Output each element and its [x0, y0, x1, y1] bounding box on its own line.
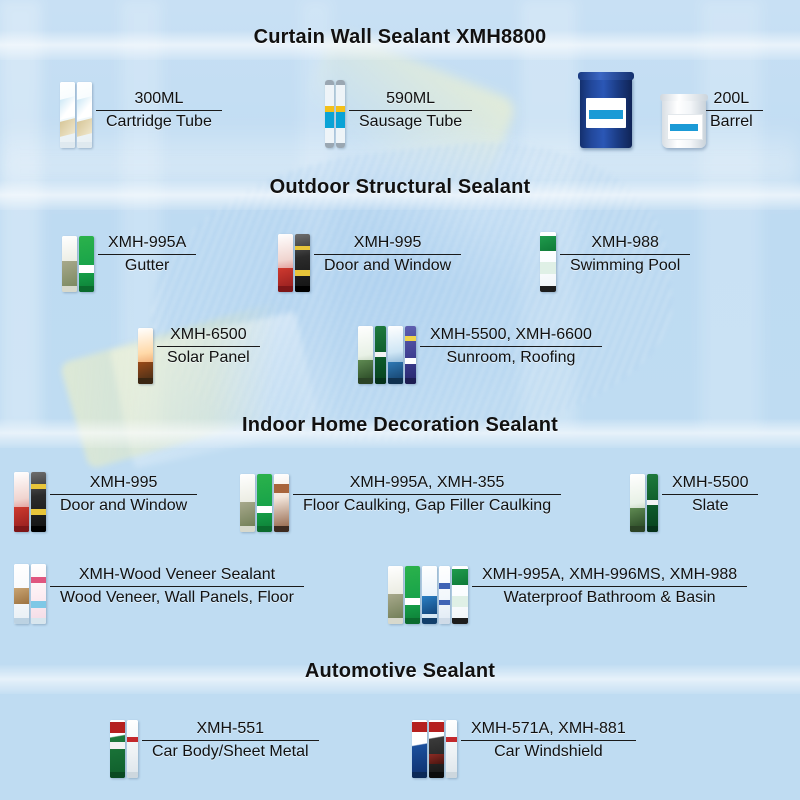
- section-title: Outdoor Structural Sealant: [270, 176, 531, 199]
- tube-icon: [439, 566, 450, 624]
- tube-icon: [388, 566, 403, 624]
- product-code: XMH-551: [186, 720, 274, 740]
- product-image-tubes-two-scenic: [630, 456, 658, 532]
- product-entry[interactable]: XMH-5500, XMH-6600 Sunroom, Roofing: [358, 308, 602, 384]
- product-code: XMH-995: [344, 234, 432, 254]
- barrel-icon: [580, 76, 632, 148]
- tube-icon: [62, 236, 77, 292]
- product-entry[interactable]: XMH-995 Door and Window: [278, 216, 461, 292]
- catalog-page: Curtain Wall Sealant XMH8800 300ML Cartr…: [0, 0, 800, 800]
- product-labels: XMH-995A, XMH-996MS, XMH-988 Waterproof …: [472, 566, 747, 607]
- product-labels: 590ML Sausage Tube: [349, 90, 472, 131]
- product-image-tube-green-white: [540, 216, 556, 292]
- product-labels: XMH-6500 Solar Panel: [157, 326, 260, 367]
- product-description: Sausage Tube: [349, 111, 472, 131]
- product-labels: 200L Barrel: [700, 90, 763, 131]
- product-description: Swimming Pool: [560, 255, 690, 275]
- product-image-cartridge-pair: [60, 72, 92, 148]
- tube-icon: [412, 720, 427, 778]
- tube-icon: [446, 720, 457, 778]
- product-image-tubes-three-mixed: [240, 456, 289, 532]
- product-labels: XMH-995 Door and Window: [314, 234, 461, 275]
- section-title: Automotive Sealant: [305, 660, 495, 683]
- tube-icon: [405, 326, 416, 384]
- product-code: XMH-995A: [98, 234, 196, 254]
- product-image-tubes-white-green: [62, 216, 94, 292]
- product-image-drum-and-pail: [580, 72, 672, 148]
- product-code: XMH-995A, XMH-355: [340, 474, 515, 494]
- tube-icon: [358, 326, 373, 384]
- tube-icon: [79, 236, 94, 292]
- product-code: XMH-988: [581, 234, 669, 254]
- product-entry[interactable]: XMH-995A, XMH-355 Floor Caulking, Gap Fi…: [240, 456, 561, 532]
- product-labels: XMH-571A, XMH-881 Car Windshield: [461, 720, 636, 761]
- product-labels: XMH-995A Gutter: [98, 234, 196, 275]
- tube-icon: [14, 472, 29, 532]
- product-entry[interactable]: XMH-995 Door and Window: [14, 456, 197, 532]
- section-header-curtain-wall: Curtain Wall Sealant XMH8800: [0, 26, 800, 49]
- product-code: 590ML: [376, 90, 445, 110]
- product-image-tubes-four-scenic: [358, 308, 416, 384]
- product-code: XMH-995: [80, 474, 168, 494]
- tube-icon: [647, 474, 658, 532]
- product-description: Door and Window: [50, 495, 197, 515]
- product-labels: XMH-995A, XMH-355 Floor Caulking, Gap Fi…: [293, 474, 561, 515]
- product-image-tubes-red-black: [14, 456, 46, 532]
- product-description: Car Body/Sheet Metal: [142, 741, 319, 761]
- product-image-tubes-two-wood: [14, 548, 46, 624]
- product-description: Floor Caulking, Gap Filler Caulking: [293, 495, 561, 515]
- tube-icon: [388, 326, 403, 384]
- product-code: XMH-Wood Veneer Sealant: [69, 566, 285, 586]
- product-description: Car Windshield: [484, 741, 612, 761]
- tube-icon: [31, 564, 46, 624]
- tube-icon: [31, 472, 46, 532]
- product-code: XMH-6500: [160, 326, 256, 346]
- tube-icon: [138, 328, 153, 384]
- product-description: Slate: [682, 495, 738, 515]
- tube-icon: [429, 720, 444, 778]
- section-header-indoor-home: Indoor Home Decoration Sealant: [0, 414, 800, 437]
- product-entry[interactable]: XMH-995A Gutter: [62, 216, 196, 292]
- product-code: XMH-571A, XMH-881: [461, 720, 636, 740]
- product-code: 300ML: [124, 90, 193, 110]
- tube-icon: [452, 566, 468, 624]
- tube-icon: [375, 326, 386, 384]
- tube-icon: [110, 720, 125, 778]
- product-image-tubes-five-bath: [388, 548, 468, 624]
- tube-icon: [240, 474, 255, 532]
- product-entry[interactable]: 200L Barrel: [580, 72, 763, 148]
- product-description: Waterproof Bathroom & Basin: [494, 587, 726, 607]
- product-labels: 300ML Cartridge Tube: [96, 90, 222, 131]
- product-code: 200L: [704, 90, 760, 110]
- product-image-tube-orange: [138, 308, 153, 384]
- product-description: Door and Window: [314, 255, 461, 275]
- product-description: Cartridge Tube: [96, 111, 222, 131]
- product-image-tubes-auto-551: [110, 702, 138, 778]
- sausage-tube-icon: [325, 80, 334, 148]
- product-description: Barrel: [700, 111, 763, 131]
- product-labels: XMH-5500, XMH-6600 Sunroom, Roofing: [420, 326, 602, 367]
- product-entry[interactable]: XMH-6500 Solar Panel: [138, 308, 260, 384]
- section-title: Indoor Home Decoration Sealant: [242, 414, 558, 437]
- tube-icon: [278, 234, 293, 292]
- product-entry[interactable]: XMH-988 Swimming Pool: [540, 216, 690, 292]
- tube-icon: [274, 474, 289, 532]
- product-labels: XMH-995 Door and Window: [50, 474, 197, 515]
- sausage-tube-icon: [336, 80, 345, 148]
- product-entry[interactable]: XMH-Wood Veneer Sealant Wood Veneer, Wal…: [14, 548, 304, 624]
- product-image-sausage-pair: [325, 72, 345, 148]
- tube-icon: [630, 474, 645, 532]
- product-description: Solar Panel: [157, 347, 260, 367]
- product-entry[interactable]: XMH-5500 Slate: [630, 456, 758, 532]
- tube-icon: [14, 564, 29, 624]
- product-entry[interactable]: 300ML Cartridge Tube: [60, 72, 222, 148]
- tube-icon: [405, 566, 420, 624]
- product-code: XMH-995A, XMH-996MS, XMH-988: [472, 566, 747, 586]
- product-code: XMH-5500: [662, 474, 758, 494]
- tube-icon: [295, 234, 310, 292]
- product-description: Wood Veneer, Wall Panels, Floor: [50, 587, 304, 607]
- product-entry[interactable]: 590ML Sausage Tube: [325, 72, 472, 148]
- product-description: Gutter: [115, 255, 179, 275]
- pail-icon: [662, 98, 706, 148]
- product-labels: XMH-5500 Slate: [662, 474, 758, 515]
- product-entry[interactable]: XMH-571A, XMH-881 Car Windshield: [412, 702, 636, 778]
- product-code: XMH-5500, XMH-6600: [420, 326, 602, 346]
- section-header-outdoor-structural: Outdoor Structural Sealant: [0, 176, 800, 199]
- tube-icon: [127, 720, 138, 778]
- tube-icon: [77, 82, 92, 148]
- product-image-tubes-red-black: [278, 216, 310, 292]
- product-image-tubes-auto-571-881: [412, 702, 457, 778]
- section-header-automotive: Automotive Sealant: [0, 660, 800, 683]
- tube-icon: [60, 82, 75, 148]
- product-labels: XMH-Wood Veneer Sealant Wood Veneer, Wal…: [50, 566, 304, 607]
- section-title: Curtain Wall Sealant XMH8800: [254, 26, 547, 49]
- tube-icon: [540, 232, 556, 292]
- tube-icon: [257, 474, 272, 532]
- product-description: Sunroom, Roofing: [436, 347, 585, 367]
- product-labels: XMH-988 Swimming Pool: [560, 234, 690, 275]
- product-entry[interactable]: XMH-551 Car Body/Sheet Metal: [110, 702, 319, 778]
- product-entry[interactable]: XMH-995A, XMH-996MS, XMH-988 Waterproof …: [388, 548, 747, 624]
- tube-icon: [422, 566, 437, 624]
- product-labels: XMH-551 Car Body/Sheet Metal: [142, 720, 319, 761]
